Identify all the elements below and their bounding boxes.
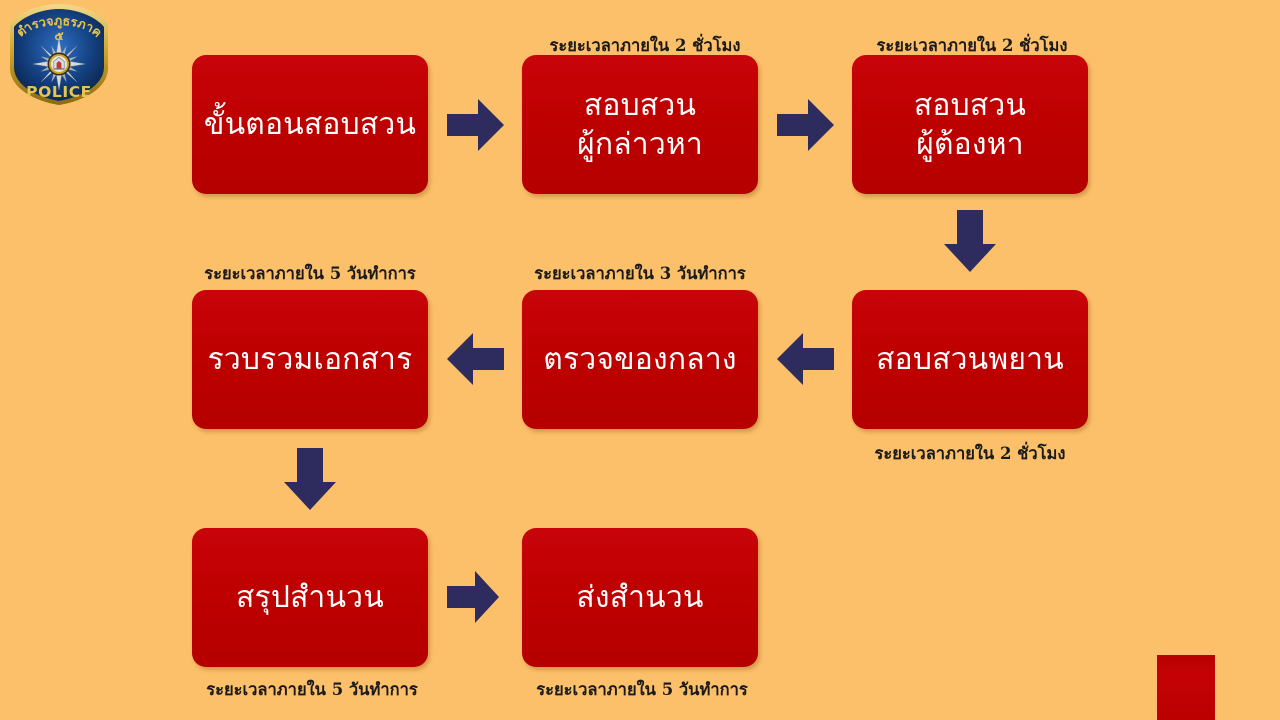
node-line: ส่งสำนวน bbox=[576, 578, 703, 617]
node-line: ขั้นตอนสอบสวน bbox=[204, 105, 416, 144]
node-line: รวบรวมเอกสาร bbox=[208, 340, 413, 379]
node-line: สรุปสำนวน bbox=[236, 578, 384, 617]
node-collect-documents[interactable]: รวบรวมเอกสาร bbox=[192, 290, 428, 429]
node-investigation-process[interactable]: ขั้นตอนสอบสวน bbox=[192, 55, 428, 194]
node-line: สอบสวนพยาน bbox=[876, 340, 1064, 379]
node-line: ตรวจของกลาง bbox=[543, 340, 736, 379]
node-line: ผู้ต้องหา bbox=[914, 125, 1026, 164]
node-line: ผู้กล่าวหา bbox=[577, 125, 703, 164]
node-interview-suspect[interactable]: สอบสวน ผู้ต้องหา bbox=[852, 55, 1088, 194]
caption-collect-documents: ระยะเวลาภายใน 5 วันทำการ bbox=[185, 261, 435, 287]
arrow-right-complainant-to-suspect bbox=[777, 99, 834, 151]
node-interview-witness[interactable]: สอบสวนพยาน bbox=[852, 290, 1088, 429]
arrow-right-process-to-complainant bbox=[447, 99, 504, 151]
arrow-down-documents-to-summary bbox=[284, 448, 336, 510]
node-summarize-case-file[interactable]: สรุปสำนวน bbox=[192, 528, 428, 667]
caption-examine-evidence: ระยะเวลาภายใน 3 วันทำการ bbox=[515, 261, 765, 287]
node-examine-evidence[interactable]: ตรวจของกลาง bbox=[522, 290, 758, 429]
arrow-right-summary-to-submit bbox=[447, 571, 499, 623]
node-line: สอบสวน bbox=[577, 86, 703, 125]
arrow-left-evidence-to-documents bbox=[447, 333, 504, 385]
arrow-down-suspect-to-witness bbox=[944, 210, 996, 272]
police-emblem-logo: ตำรวจภูธรภาค ๕ bbox=[4, 2, 114, 107]
caption-interview-witness: ระยะเวลาภายใน 2 ชั่วโมง bbox=[860, 441, 1080, 467]
node-interview-complainant[interactable]: สอบสวน ผู้กล่าวหา bbox=[522, 55, 758, 194]
caption-summarize-case-file: ระยะเวลาภายใน 5 วันทำการ bbox=[187, 677, 437, 703]
node-line: สอบสวน bbox=[914, 86, 1026, 125]
logo-bottom-text: POLICE bbox=[26, 83, 92, 101]
node-submit-case-file[interactable]: ส่งสำนวน bbox=[522, 528, 758, 667]
caption-submit-case-file: ระยะเวลาภายใน 5 วันทำการ bbox=[517, 677, 767, 703]
corner-red-block bbox=[1157, 655, 1215, 720]
arrow-left-witness-to-evidence bbox=[777, 333, 834, 385]
